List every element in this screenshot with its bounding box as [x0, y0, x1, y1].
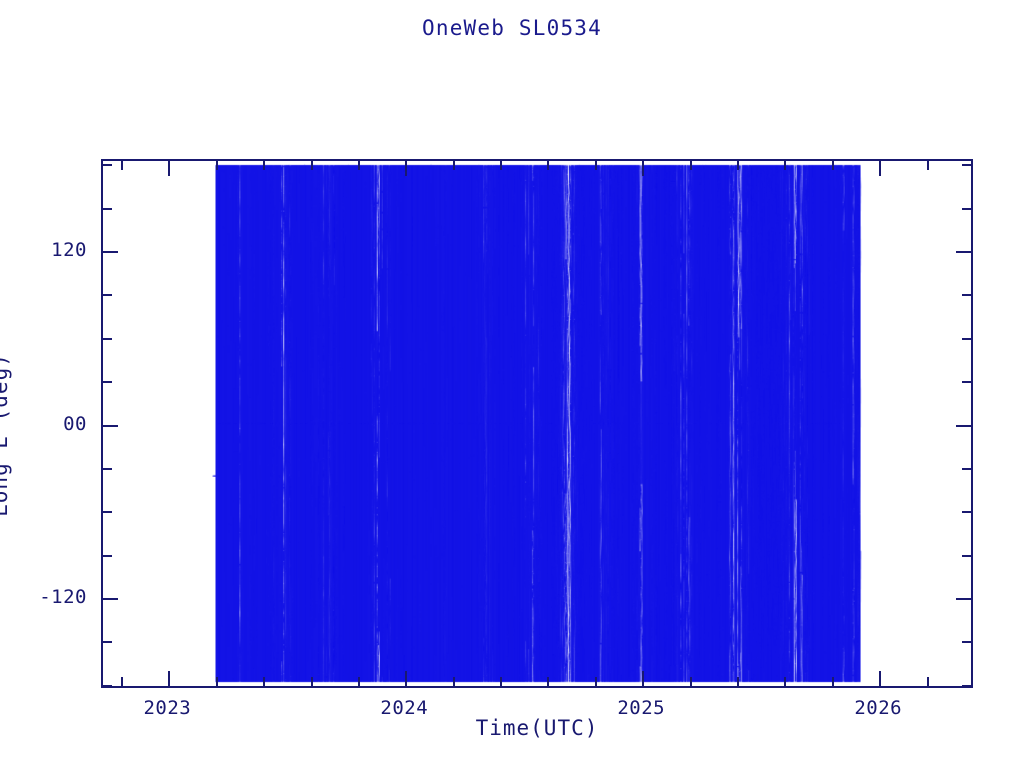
y-tick-label: 00	[0, 413, 87, 435]
x-major-tick-top	[168, 161, 170, 176]
x-minor-tick-top	[595, 161, 597, 170]
y-minor-tick-right	[962, 555, 971, 557]
x-minor-tick-top	[927, 161, 929, 170]
x-major-tick	[642, 671, 644, 686]
y-major-tick-right	[956, 425, 971, 427]
y-minor-tick	[103, 468, 112, 470]
y-axis-title: Long E (deg)	[0, 353, 12, 517]
y-minor-tick-right	[962, 685, 971, 687]
x-minor-tick-top	[690, 161, 692, 170]
x-axis-title: Time(UTC)	[101, 716, 973, 740]
x-minor-tick	[547, 677, 549, 686]
x-major-tick-top	[405, 161, 407, 176]
y-minor-tick	[103, 641, 112, 643]
x-major-tick	[405, 671, 407, 686]
y-minor-tick	[103, 338, 112, 340]
x-minor-tick-top	[216, 161, 218, 170]
y-minor-tick-right	[962, 381, 971, 383]
page-title: OneWeb SL0534	[0, 16, 1024, 40]
x-minor-tick	[784, 677, 786, 686]
y-major-tick	[103, 598, 118, 600]
x-minor-tick-top	[784, 161, 786, 170]
x-minor-tick	[595, 677, 597, 686]
x-minor-tick	[121, 677, 123, 686]
y-minor-tick	[103, 685, 112, 687]
longitude-trace-series	[103, 161, 971, 686]
y-minor-tick	[103, 555, 112, 557]
x-minor-tick-top	[500, 161, 502, 170]
y-minor-tick-right	[962, 164, 971, 166]
x-tick-label: 2025	[617, 697, 665, 719]
x-minor-tick	[358, 677, 360, 686]
x-minor-tick-top	[547, 161, 549, 170]
y-major-tick-right	[956, 251, 971, 253]
x-minor-tick-top	[311, 161, 313, 170]
y-minor-tick	[103, 208, 112, 210]
x-minor-tick-top	[453, 161, 455, 170]
x-major-tick	[879, 671, 881, 686]
y-minor-tick-right	[962, 641, 971, 643]
x-minor-tick-top	[832, 161, 834, 170]
x-minor-tick	[832, 677, 834, 686]
x-tick-label: 2024	[380, 697, 428, 719]
x-minor-tick	[453, 677, 455, 686]
x-minor-tick-top	[263, 161, 265, 170]
y-major-tick	[103, 425, 118, 427]
y-minor-tick	[103, 381, 112, 383]
x-major-tick-top	[879, 161, 881, 176]
x-minor-tick-top	[358, 161, 360, 170]
y-minor-tick-right	[962, 468, 971, 470]
y-minor-tick	[103, 294, 112, 296]
x-minor-tick-top	[737, 161, 739, 170]
x-minor-tick	[927, 677, 929, 686]
x-minor-tick	[690, 677, 692, 686]
y-major-tick	[103, 251, 118, 253]
x-major-tick-top	[642, 161, 644, 176]
x-major-tick	[168, 671, 170, 686]
x-minor-tick	[737, 677, 739, 686]
y-minor-tick-right	[962, 294, 971, 296]
plot-area	[101, 159, 973, 688]
chart-page: OneWeb SL0534 Long E (deg) Time(UTC) 120…	[0, 0, 1024, 768]
x-minor-tick	[216, 677, 218, 686]
x-minor-tick-top	[121, 161, 123, 170]
y-tick-label: 120	[0, 239, 87, 261]
y-minor-tick	[103, 164, 112, 166]
x-minor-tick	[263, 677, 265, 686]
x-tick-label: 2026	[854, 697, 902, 719]
y-tick-label: -120	[0, 586, 87, 608]
y-major-tick-right	[956, 598, 971, 600]
y-minor-tick-right	[962, 511, 971, 513]
x-tick-label: 2023	[143, 697, 191, 719]
y-minor-tick-right	[962, 338, 971, 340]
x-minor-tick	[311, 677, 313, 686]
y-minor-tick-right	[962, 208, 971, 210]
y-minor-tick	[103, 511, 112, 513]
x-minor-tick	[500, 677, 502, 686]
